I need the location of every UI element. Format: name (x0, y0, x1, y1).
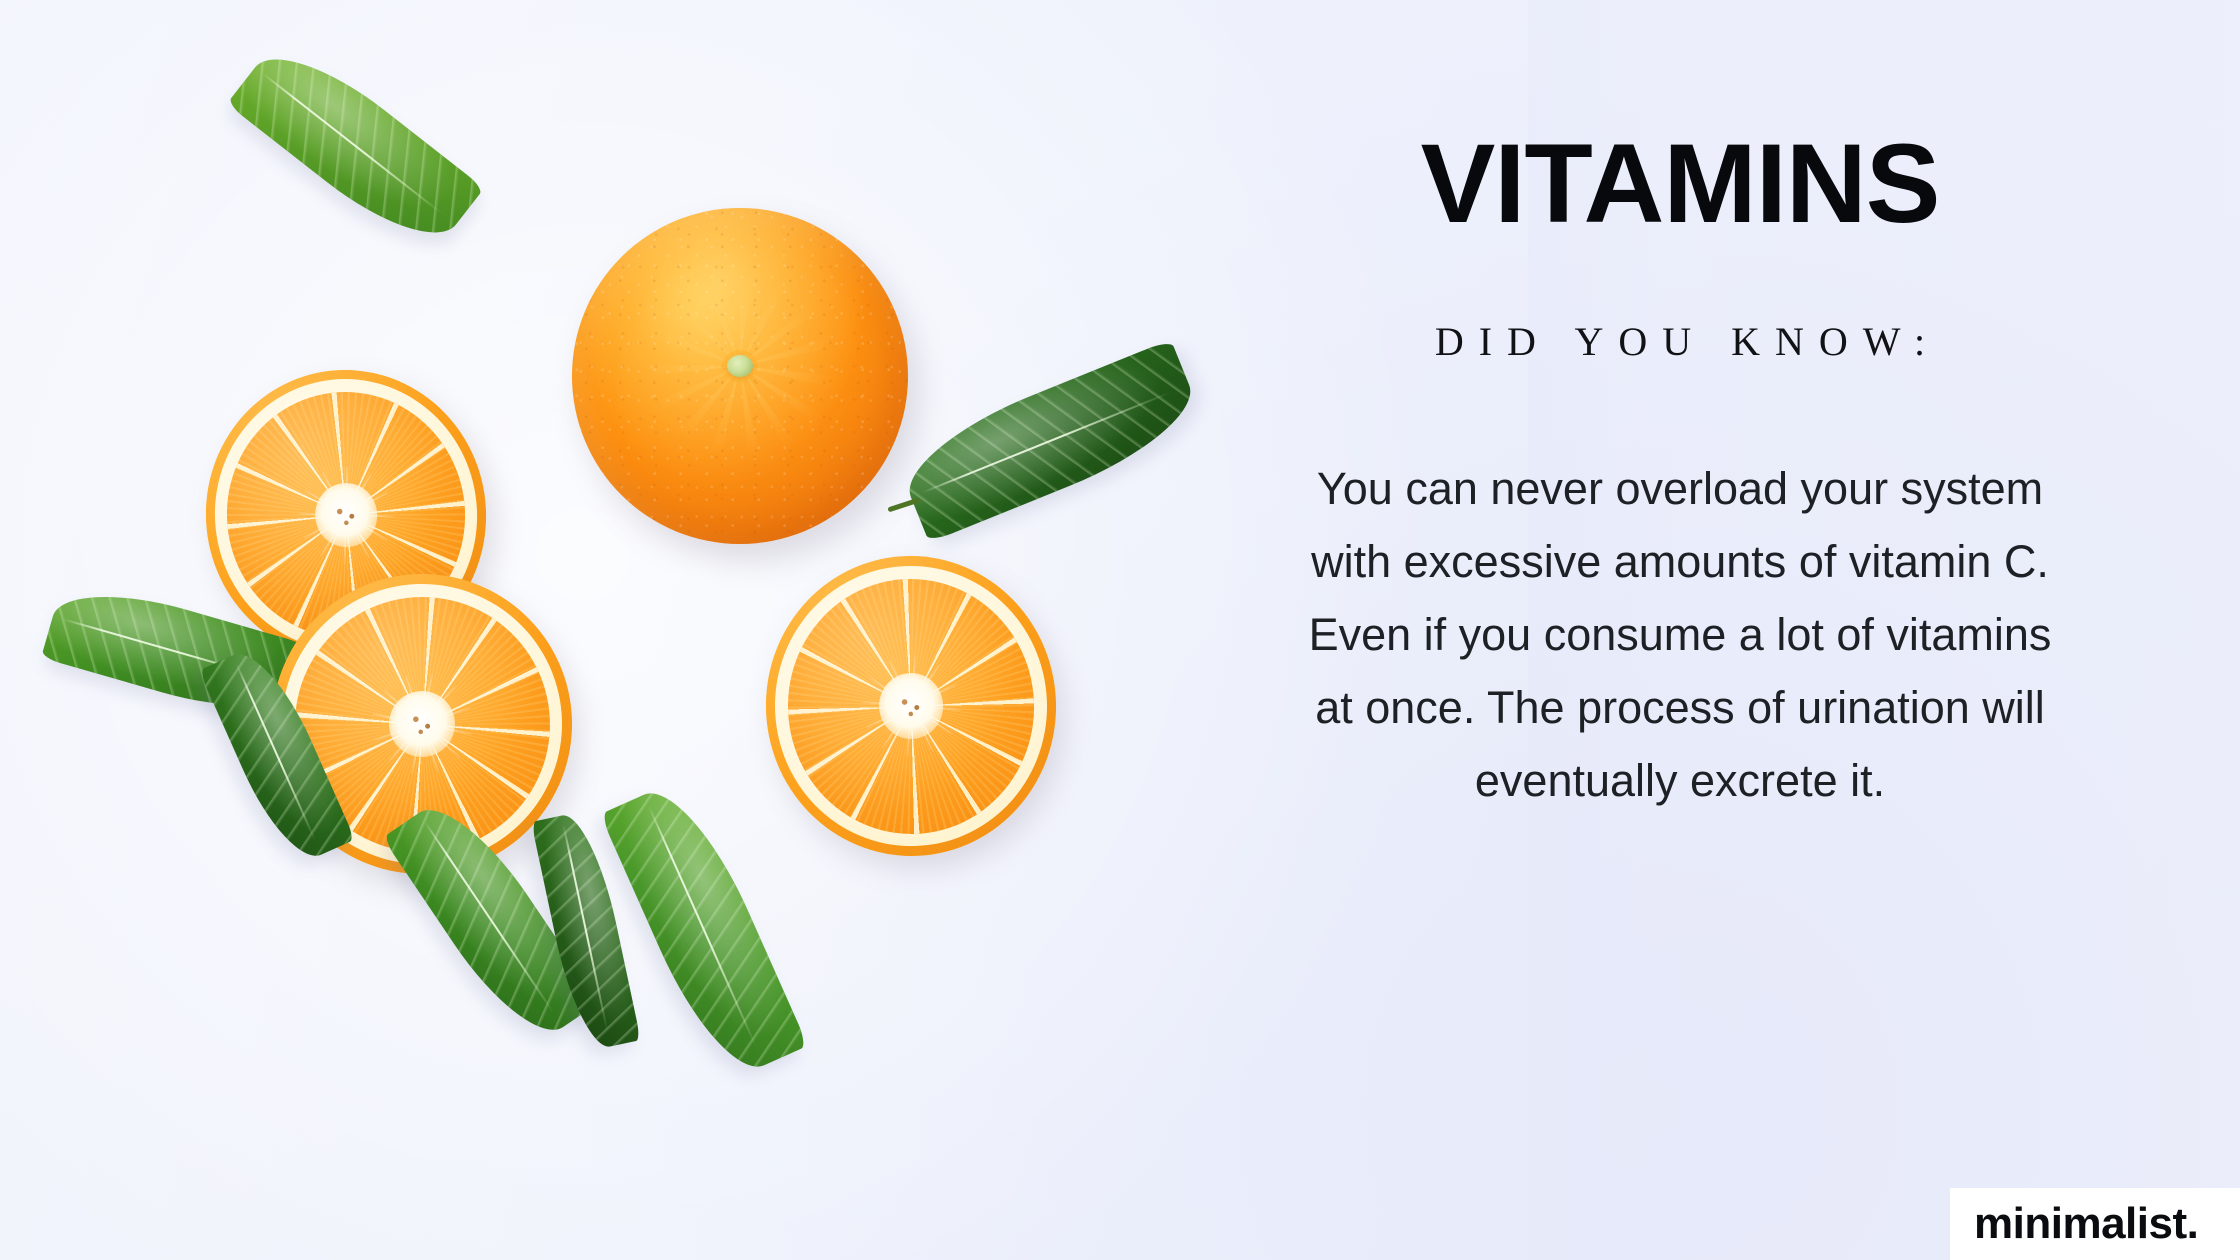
page-title: VITAMINS (1180, 128, 2180, 240)
body-line: Even if you consume a lot of vitamins (1190, 598, 2170, 671)
body-line: eventually excrete it. (1190, 744, 2170, 817)
whole-orange (572, 208, 908, 544)
poster-canvas: VITAMINS DID YOU KNOW: You can never ove… (0, 0, 2240, 1260)
brand-logo-label: minimalist. (1974, 1199, 2198, 1249)
body-line: You can never overload your system (1190, 452, 2170, 525)
text-column: VITAMINS DID YOU KNOW: You can never ove… (1180, 0, 2180, 1260)
citrus-photo (0, 0, 1060, 1260)
body-line: at once. The process of urination will (1190, 671, 2170, 744)
orange-half-right (758, 549, 1063, 864)
body-line: with excessive amounts of vitamin C. (1190, 525, 2170, 598)
brand-logo: minimalist. (1950, 1188, 2240, 1260)
body-copy: You can never overload your system with … (1190, 452, 2170, 817)
leaf-top-left-icon (227, 31, 485, 260)
kicker-label: DID YOU KNOW: (1180, 318, 2180, 365)
